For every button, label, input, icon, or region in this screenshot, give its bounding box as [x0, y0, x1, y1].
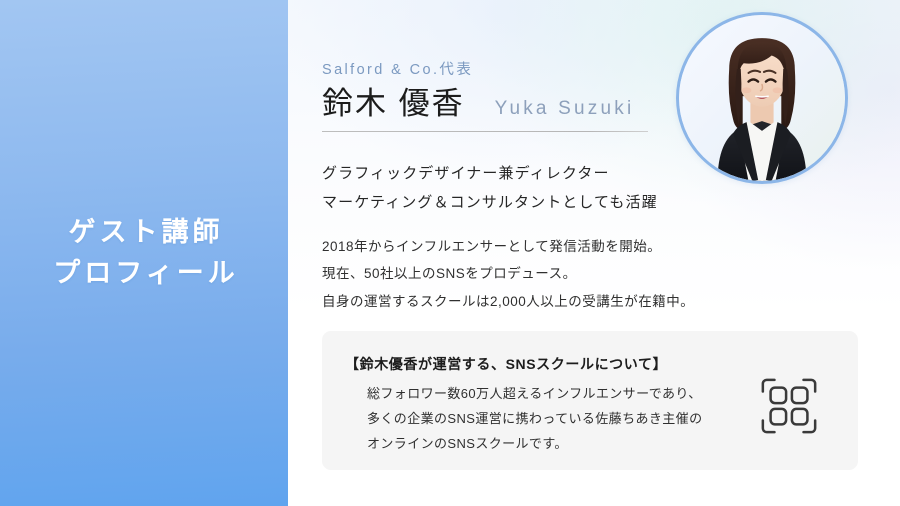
portrait-illustration [679, 15, 845, 181]
profile-header: Salford & Co.代表 鈴木 優香 Yuka Suzuki [322, 58, 652, 132]
role-line-2: マーケティング＆コンサルタントとしても活躍 [322, 189, 682, 218]
profile-slide: ゲスト講師 プロフィール Salford & Co.代表 鈴木 優香 Yuka … [0, 0, 900, 506]
role-line-1: グラフィックデザイナー兼ディレクター [322, 160, 682, 189]
qr-code-icon [758, 375, 820, 437]
bio-line-3: 自身の運営するスクールは2,000人以上の受講生が在籍中。 [322, 288, 722, 315]
portrait-photo [676, 12, 848, 184]
name-divider [322, 131, 648, 132]
role-description: グラフィックデザイナー兼ディレクター マーケティング＆コンサルタントとしても活躍 [322, 160, 682, 218]
bio-line-1: 2018年からインフルエンサーとして発信活動を開始。 [322, 233, 722, 260]
guest-instructor-panel: ゲスト講師 プロフィール [0, 0, 288, 506]
name-japanese: 鈴木 優香 [322, 87, 465, 122]
school-info-line-1: 総フォロワー数60万人超えるインフルエンサーであり、 [367, 382, 767, 407]
panel-title-line-2: プロフィール [49, 253, 238, 294]
name-romaji: Yuka Suzuki [495, 98, 635, 120]
school-info-body: 総フォロワー数60万人超えるインフルエンサーであり、 多くの企業のSNS運営に携… [367, 382, 767, 457]
school-info-card: 【鈴木優香が運営する、SNSスクールについて】 総フォロワー数60万人超えるイン… [322, 331, 858, 470]
bio-line-2: 現在、50社以上のSNSをプロデュース。 [322, 260, 722, 287]
name-row: 鈴木 優香 Yuka Suzuki [322, 87, 652, 122]
school-info-heading: 【鈴木優香が運営する、SNSスクールについて】 [345, 354, 667, 374]
school-info-line-3: オンラインのSNSスクールです。 [367, 432, 767, 457]
school-info-line-2: 多くの企業のSNS運営に携わっている佐藤ちあき主催の [367, 407, 767, 432]
panel-title-line-1: ゲスト講師 [65, 212, 224, 253]
company-role-eyebrow: Salford & Co.代表 [322, 58, 652, 79]
biography: 2018年からインフルエンサーとして発信活動を開始。 現在、50社以上のSNSを… [322, 233, 722, 315]
